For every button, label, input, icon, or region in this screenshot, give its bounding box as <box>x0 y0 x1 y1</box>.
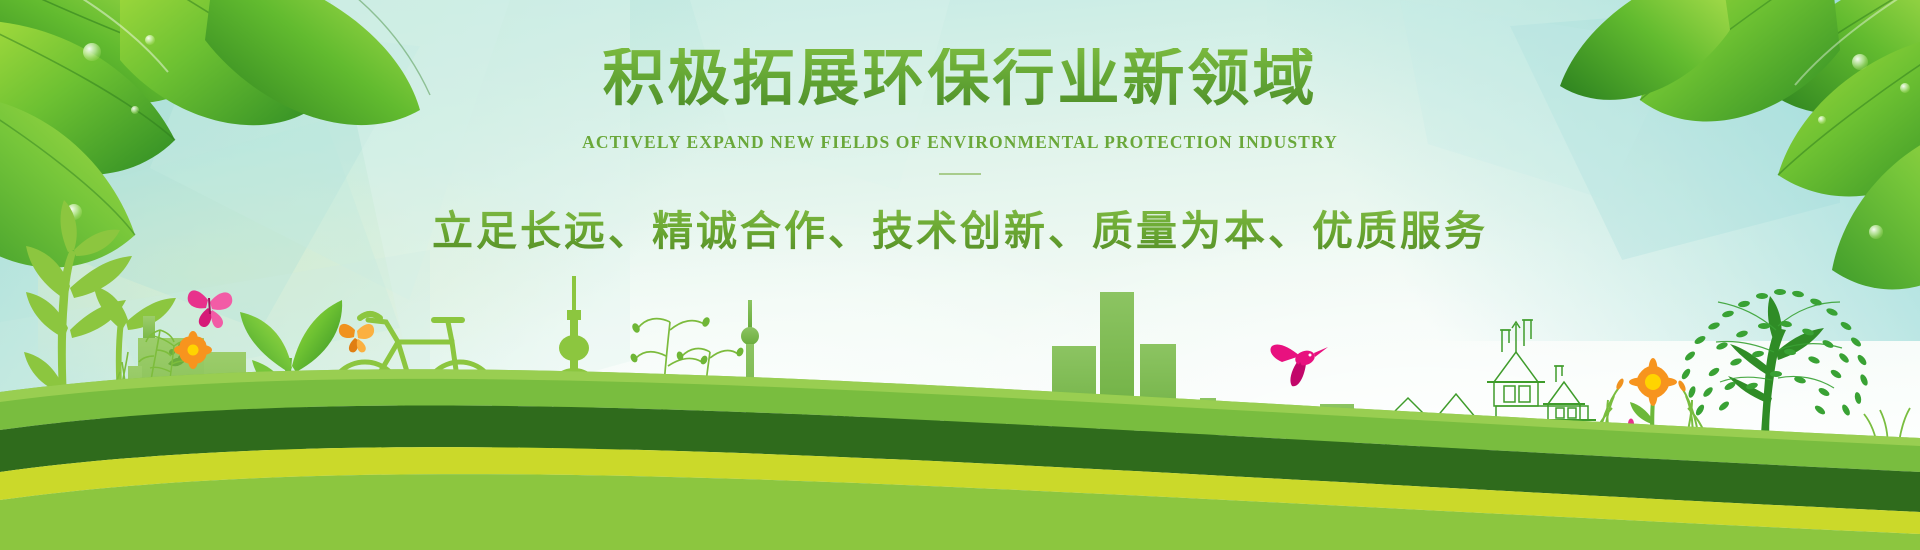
green-waves <box>0 0 1920 550</box>
eco-banner: 积极拓展环保行业新领域 ACTIVELY EXPAND NEW FIELDS O… <box>0 0 1920 550</box>
